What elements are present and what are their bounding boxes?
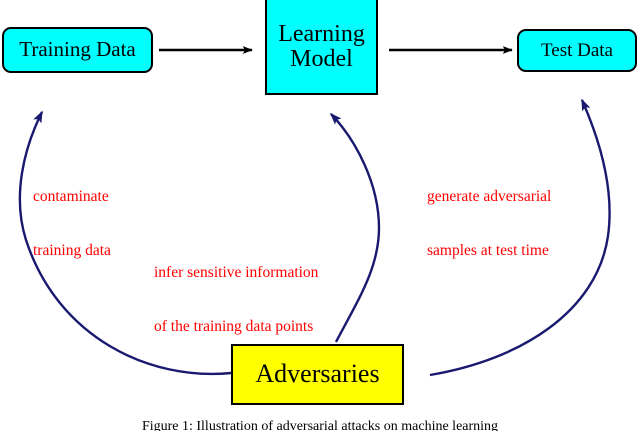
node-learning-model-label-line2: Model [278, 47, 365, 71]
figure-caption: Figure 1: Illustration of adversarial at… [0, 419, 640, 431]
annotation-infer-line1: infer sensitive information [154, 264, 318, 282]
diagram-canvas: Training Data Learning Model Test Data A… [0, 0, 640, 431]
node-training-data-label: Training Data [19, 39, 135, 60]
annotation-contaminate: contaminate training data [33, 151, 111, 297]
node-test-data-label: Test Data [541, 41, 613, 60]
node-learning-model[interactable]: Learning Model [265, 0, 378, 95]
node-learning-model-label-line1: Learning [278, 22, 365, 46]
annotation-generate-line2: samples at test time [427, 242, 551, 260]
annotation-infer-line2: of the training data points [154, 318, 318, 336]
node-learning-model-label: Learning Model [278, 22, 365, 71]
annotation-generate: generate adversarial samples at test tim… [427, 151, 551, 297]
annotation-generate-line1: generate adversarial [427, 188, 551, 206]
arrow-inference-attack [331, 114, 379, 342]
annotation-infer: infer sensitive information of the train… [154, 227, 318, 373]
annotation-contaminate-line1: contaminate [33, 188, 111, 206]
annotation-contaminate-line2: training data [33, 242, 111, 260]
node-test-data[interactable]: Test Data [517, 29, 637, 72]
node-training-data[interactable]: Training Data [2, 27, 153, 73]
